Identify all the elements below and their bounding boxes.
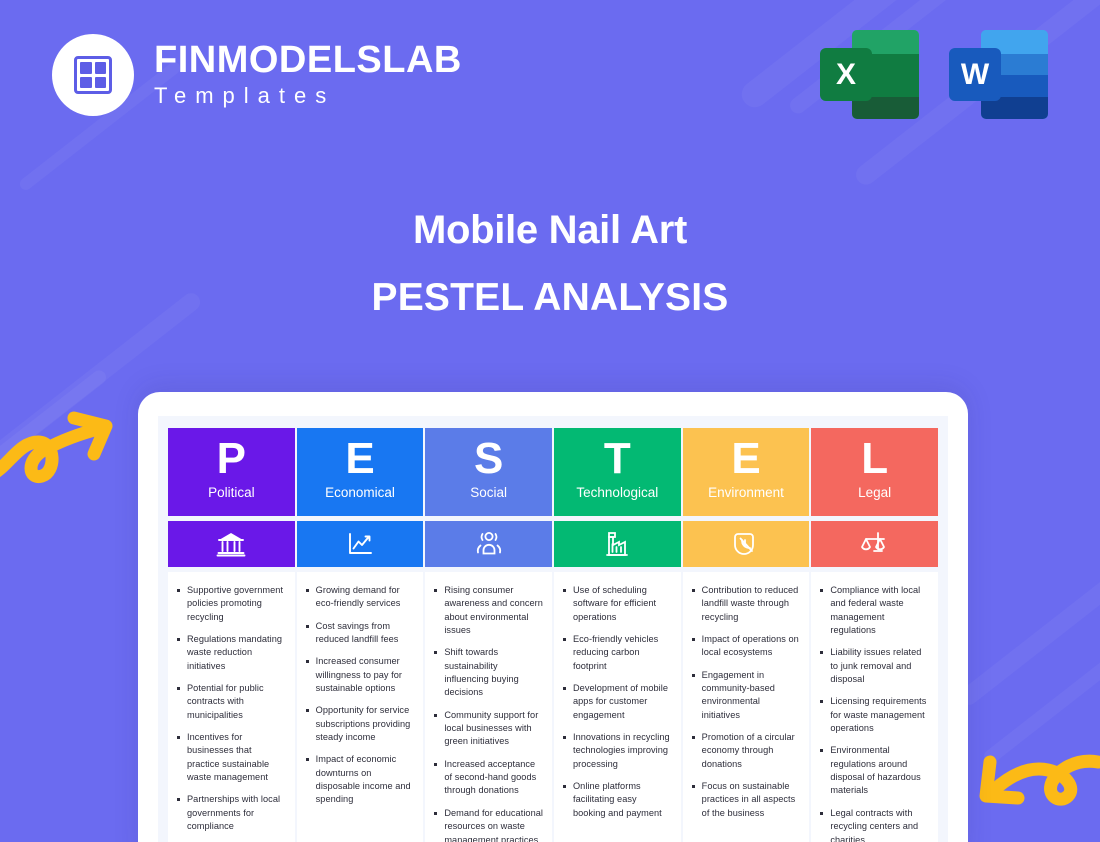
column-letter: S [474,438,503,480]
background-brush-stroke [0,368,109,527]
list-item: Focus on sustainable practices in all as… [690,780,801,820]
list-item: Legal contracts with recycling centers a… [818,807,929,842]
line-chart-icon [297,521,424,567]
list-item: Eco-friendly vehicles reducing carbon fo… [561,633,672,673]
column-letter: P [217,438,246,480]
bullet-list-legal: Compliance with local and federal waste … [818,584,929,842]
column-header-technological: T Technological [554,428,681,516]
list-item: Increased consumer willingness to pay fo… [304,655,415,695]
pestel-column-social[interactable]: S Social [425,428,552,842]
list-item: Licensing requirements for waste managem… [818,695,929,735]
page-title: Mobile Nail Art PESTEL ANALYSIS [0,206,1100,320]
squiggle-arrow-up-right-icon [0,398,122,498]
logo-badge [52,34,134,116]
factory-building-icon [554,521,681,567]
brand-tagline: Templates [154,83,462,109]
title-line-1: Mobile Nail Art [0,206,1100,254]
column-header-legal: L Legal [811,428,938,516]
list-item: Engagement in community-based environmen… [690,669,801,722]
squiggle-arrow-down-left-icon [960,752,1100,842]
list-item: Impact of economic downturns on disposab… [304,753,415,806]
pestel-panel: P Political Supp [158,416,948,842]
bullet-list-technological: Use of scheduling software for efficient… [561,584,672,820]
column-body-economical: Growing demand for eco-friendly services… [297,572,424,842]
pestel-column-technological[interactable]: T Technological Use of scheduli [554,428,681,842]
background-brush-stroke [981,608,1100,767]
column-name: Social [470,485,507,500]
list-item: Shift towards sustainability influencing… [432,646,543,699]
grid-squares-logo-icon [74,56,112,94]
column-letter: E [731,438,760,480]
list-item: Growing demand for eco-friendly services [304,584,415,611]
list-item: Development of mobile apps for customer … [561,682,672,722]
list-item: Online platforms facilitating easy booki… [561,780,672,820]
bullet-list-economical: Growing demand for eco-friendly services… [304,584,415,807]
column-body-environment: Contribution to reduced landfill waste t… [683,572,810,842]
list-item: Partnerships with local governments for … [175,793,286,833]
column-letter: T [604,438,631,480]
column-name: Economical [325,485,395,500]
column-name: Environment [708,485,784,500]
brand-logo: FINMODELSLAB Templates [52,34,462,116]
list-item: Impact of operations on local ecosystems [690,633,801,660]
list-item: Compliance with local and federal waste … [818,584,929,637]
format-badges: X W [820,26,1048,123]
pestel-column-economical[interactable]: E Economical Growing demand for eco-frie… [297,428,424,842]
list-item: Increased acceptance of second-hand good… [432,758,543,798]
background-brush-stroke [956,510,1100,709]
list-item: Environmental regulations around disposa… [818,744,929,797]
column-body-political: Supportive government policies promoting… [168,572,295,842]
pestel-grid: P Political Supp [168,428,938,842]
title-line-2: PESTEL ANALYSIS [0,276,1100,320]
bullet-list-environment: Contribution to reduced landfill waste t… [690,584,801,820]
column-header-environment: E Environment [683,428,810,516]
pestel-column-political[interactable]: P Political Supp [168,428,295,842]
list-item: Regulations mandating waste reduction in… [175,633,286,673]
list-item: Cost savings from reduced landfill fees [304,620,415,647]
column-name: Political [208,485,255,500]
list-item: Demand for educational resources on wast… [432,807,543,842]
poster-canvas: FINMODELSLAB Templates X W Mobile Nail A… [0,0,1100,842]
pestel-column-environment[interactable]: E Environment Contribution to r [683,428,810,842]
column-body-legal: Compliance with local and federal waste … [811,572,938,842]
bullet-list-social: Rising consumer awareness and concern ab… [432,584,543,842]
column-body-social: Rising consumer awareness and concern ab… [425,572,552,842]
column-header-political: P Political [168,428,295,516]
list-item: Potential for public contracts with muni… [175,682,286,722]
list-item: Use of scheduling software for efficient… [561,584,672,624]
column-header-economical: E Economical [297,428,424,516]
leaf-shield-icon [683,521,810,567]
list-item: Promotion of a circular economy through … [690,731,801,771]
brand-name: FINMODELSLAB [154,41,462,81]
list-item: Innovations in recycling technologies im… [561,731,672,771]
list-item: Liability issues related to junk removal… [818,646,929,686]
people-group-icon [425,521,552,567]
list-item: Incentives for businesses that practice … [175,731,286,784]
column-name: Technological [576,485,658,500]
column-header-social: S Social [425,428,552,516]
word-badge-letter: W [949,48,1001,101]
column-name: Legal [858,485,891,500]
bank-institution-icon [168,521,295,567]
column-letter: L [861,438,888,480]
column-body-technological: Use of scheduling software for efficient… [554,572,681,842]
pestel-column-legal[interactable]: L Legal Complian [811,428,938,842]
list-item: Contribution to reduced landfill waste t… [690,584,801,624]
list-item: Community support for local businesses w… [432,709,543,749]
bullet-list-political: Supportive government policies promoting… [175,584,286,834]
column-letter: E [345,438,374,480]
word-file-icon: W [949,26,1048,123]
list-item: Supportive government policies promoting… [175,584,286,624]
scales-justice-icon [811,521,938,567]
excel-badge-letter: X [820,48,872,101]
list-item: Rising consumer awareness and concern ab… [432,584,543,637]
pestel-card: P Political Supp [138,392,968,842]
excel-file-icon: X [820,26,919,123]
list-item: Opportunity for service subscriptions pr… [304,704,415,744]
